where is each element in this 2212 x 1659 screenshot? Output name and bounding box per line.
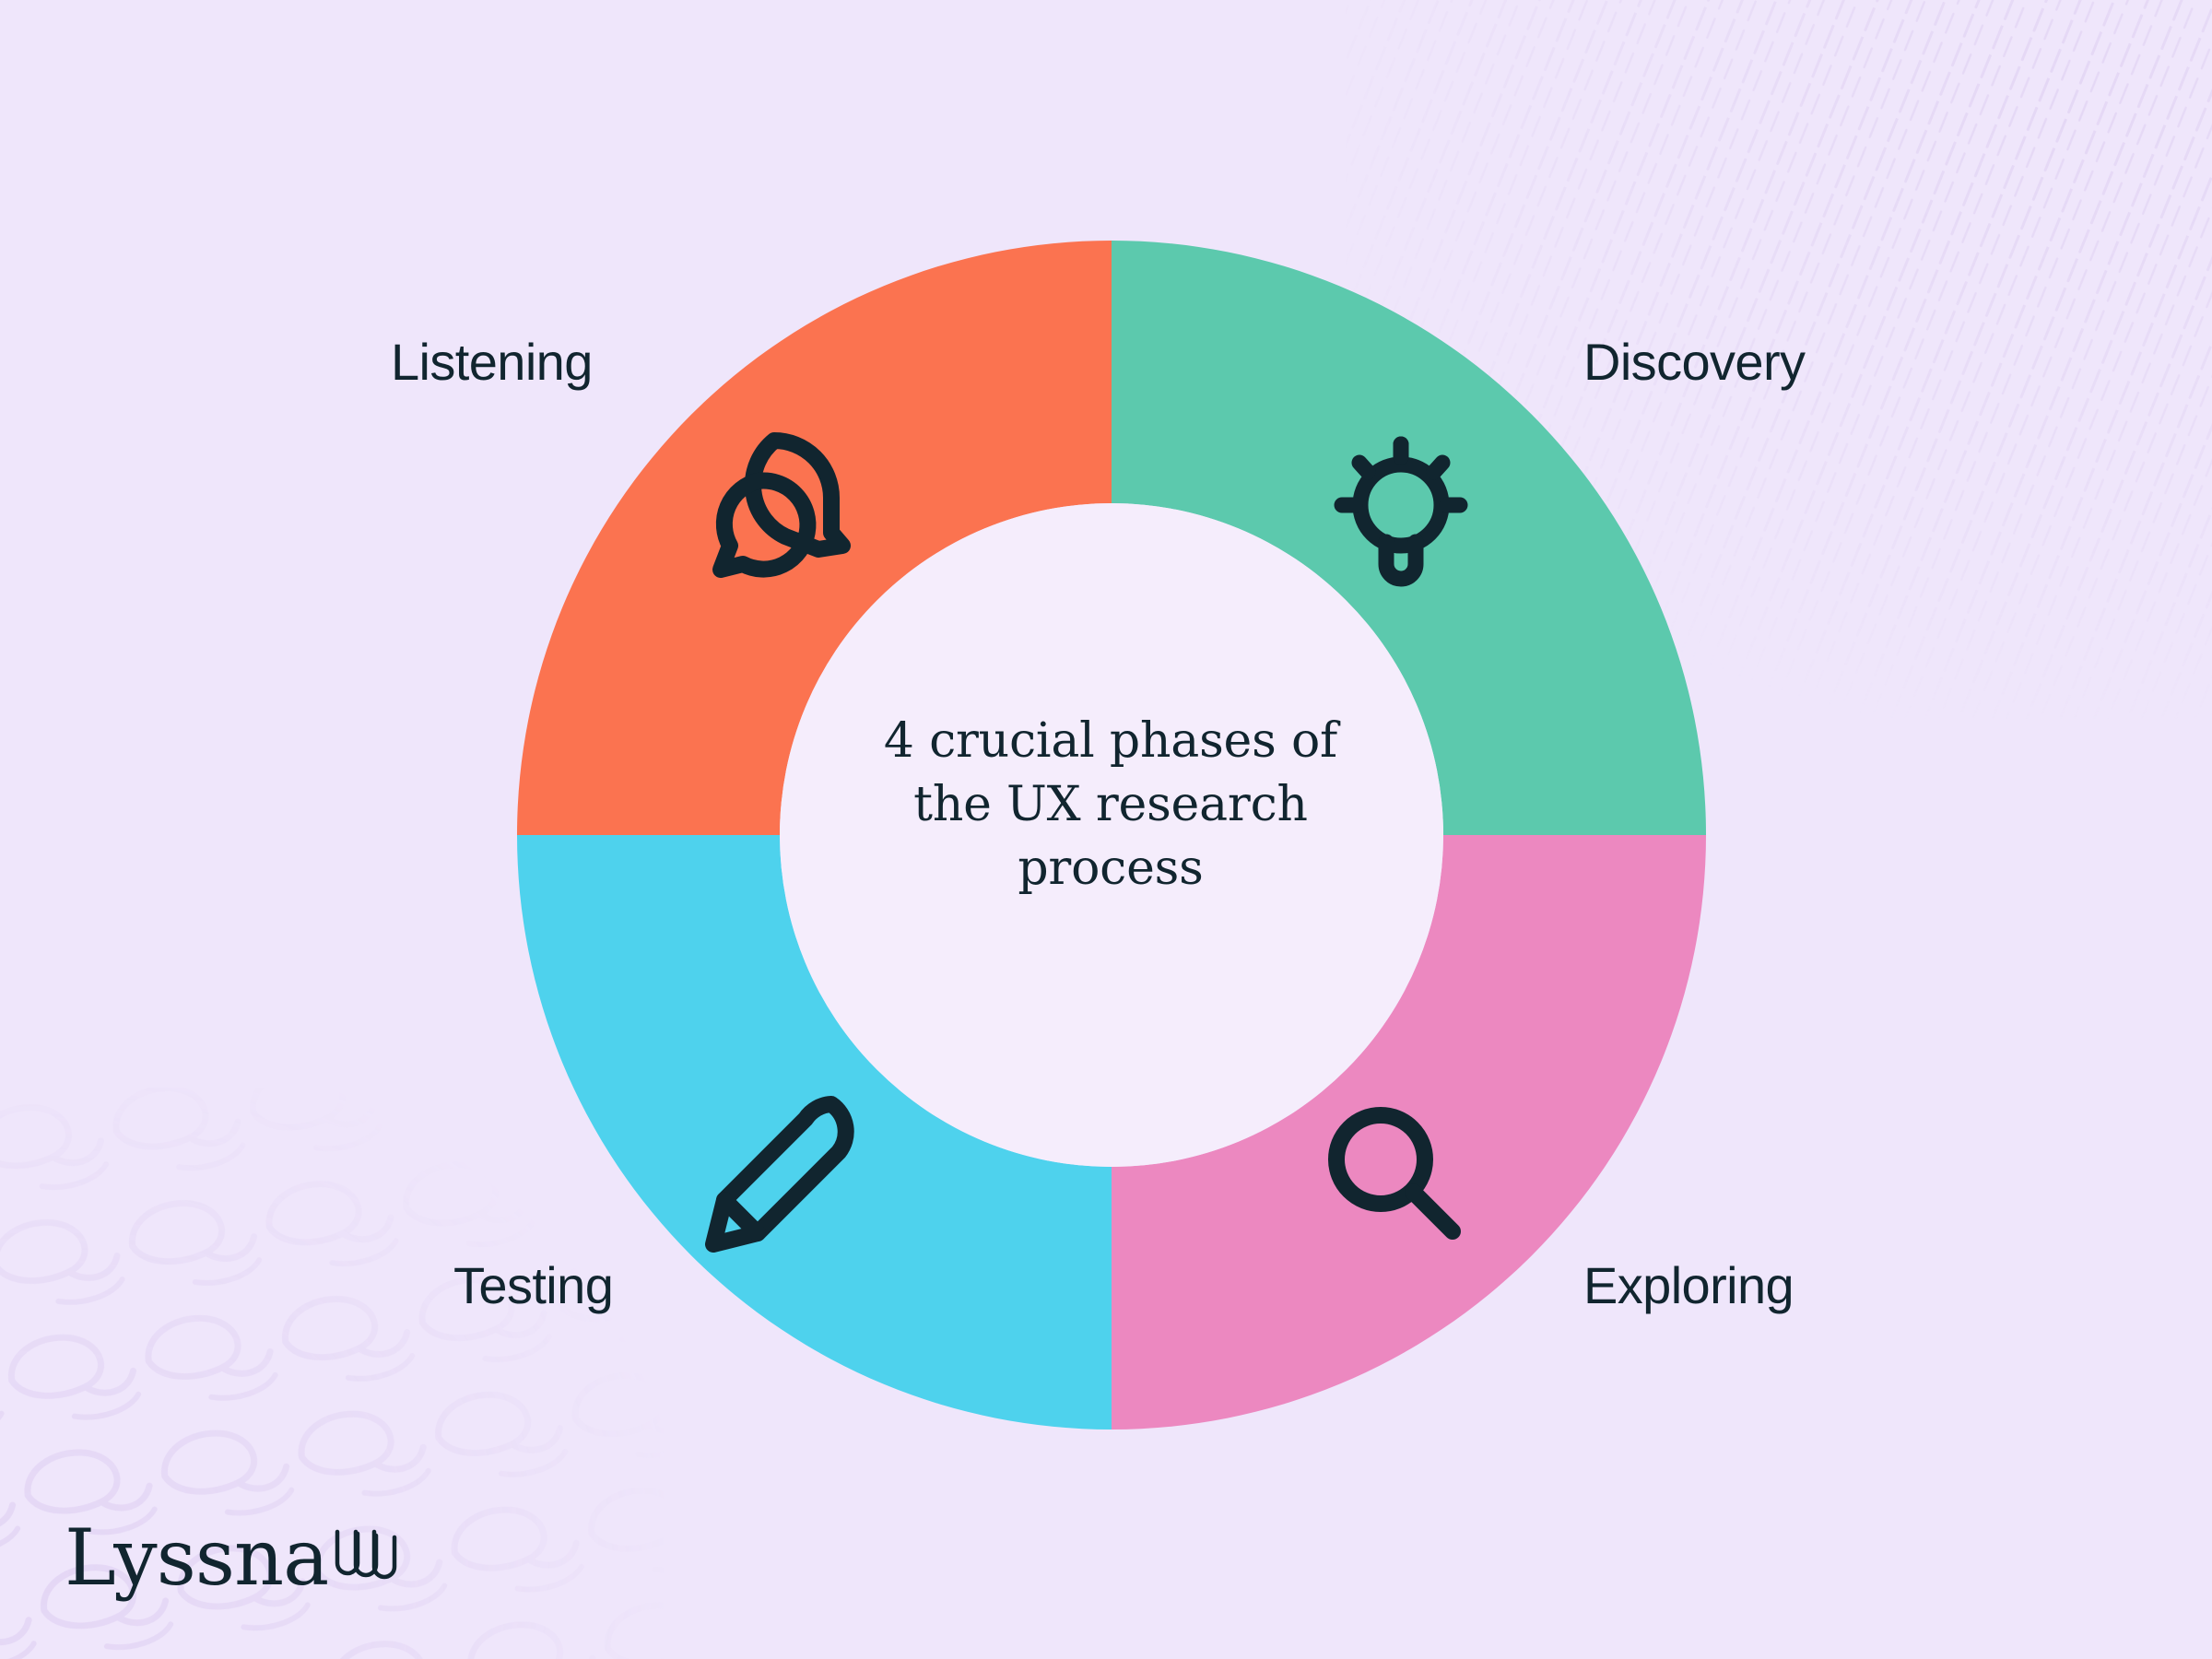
center-title-line-1: 4 crucial phases of bbox=[834, 710, 1387, 773]
wave-loops-mark-icon bbox=[332, 1528, 400, 1583]
segment-label-listening: Listening bbox=[391, 332, 593, 392]
segment-label-discovery: Discovery bbox=[1583, 332, 1805, 392]
center-title: 4 crucial phases of the UX research proc… bbox=[834, 710, 1387, 900]
center-title-line-2: the UX research bbox=[834, 773, 1387, 837]
infographic-canvas: 4 crucial phases of the UX research proc… bbox=[0, 0, 2212, 1659]
center-title-line-3: process bbox=[834, 837, 1387, 900]
logo-wordmark: Lyssna bbox=[65, 1519, 328, 1596]
segment-label-testing: Testing bbox=[453, 1255, 613, 1315]
segment-label-exploring: Exploring bbox=[1583, 1255, 1794, 1315]
lyssna-logo: Lyssna bbox=[65, 1519, 400, 1596]
